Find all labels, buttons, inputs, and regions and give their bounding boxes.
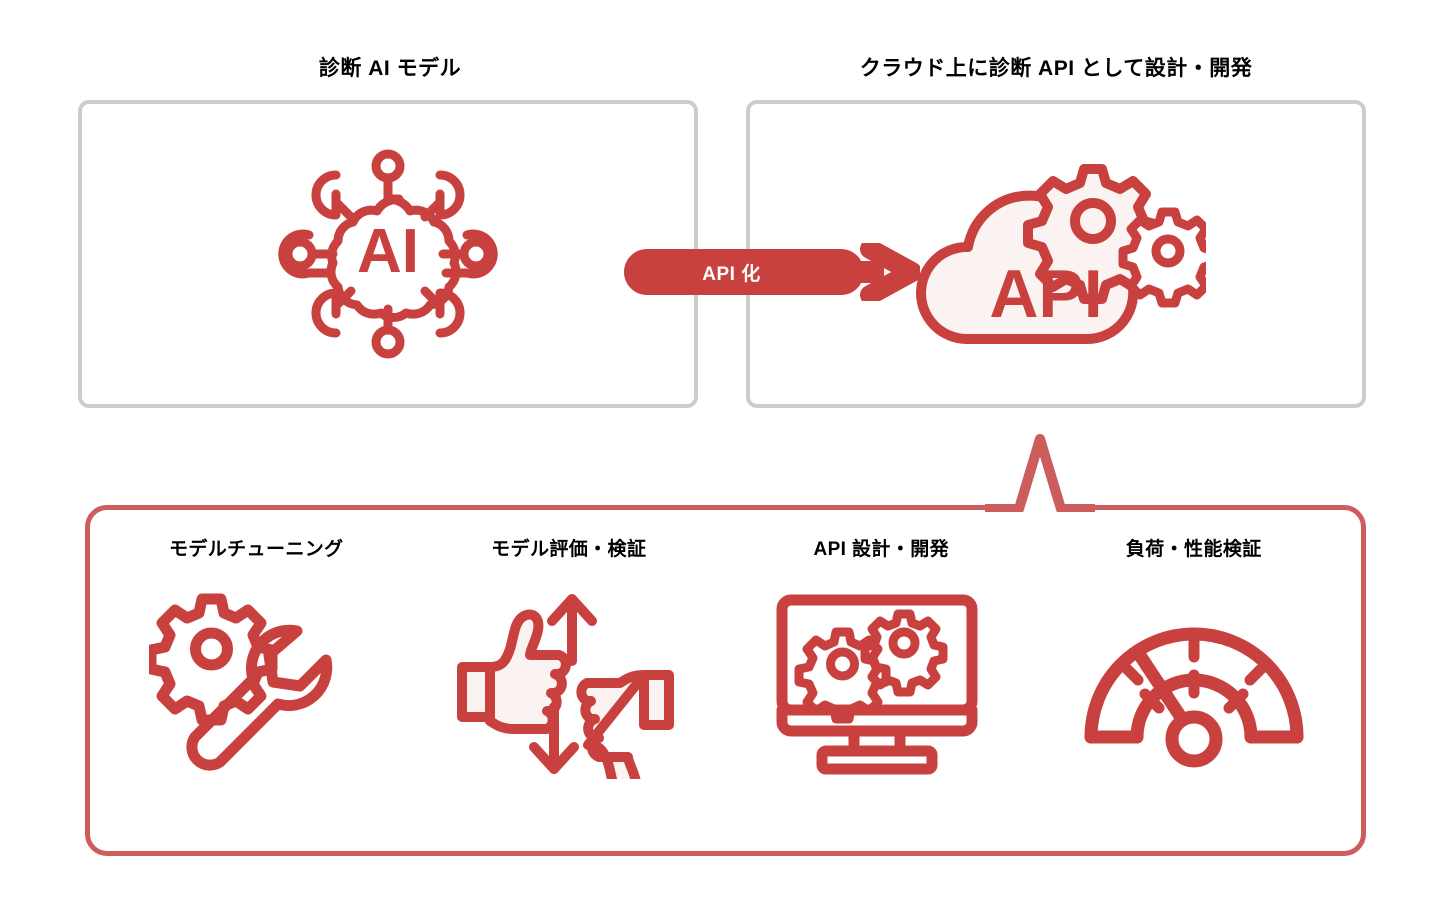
gauge-speedometer-icon xyxy=(1079,597,1309,772)
arrow-label: API 化 xyxy=(624,243,839,301)
detail-item-model-evaluation: モデル評価・検証 xyxy=(429,540,709,779)
detail-item-icon-wrap xyxy=(774,589,989,779)
cloud-gears-api-icon: API xyxy=(906,139,1206,369)
cloud-box-title: クラウド上に診断 API として設計・開発 xyxy=(746,58,1366,79)
thumbs-up-down-arrows-icon xyxy=(454,589,684,779)
detail-item-label: API 設計・開発 xyxy=(813,540,949,559)
model-box-title: 診断 AI モデル xyxy=(80,58,700,79)
api-icon-text: API xyxy=(989,256,1102,332)
detail-items-row: モデルチューニング モデル評価・検証 xyxy=(100,540,1350,840)
detail-item-label: モデル評価・検証 xyxy=(491,540,646,559)
monitor-gears-icon xyxy=(774,592,989,777)
diagram-canvas: 診断 AI モデル クラウド上に診断 API として設計・開発 xyxy=(0,0,1440,920)
model-box-icon-wrap: AI xyxy=(82,104,694,404)
detail-item-api-design: API 設計・開発 xyxy=(741,540,1021,779)
ai-icon-text: AI xyxy=(357,217,419,286)
detail-item-label: 負荷・性能検証 xyxy=(1126,540,1262,559)
detail-item-label: モデルチューニング xyxy=(169,540,344,559)
detail-item-icon-wrap xyxy=(149,589,364,779)
detail-item-load-performance: 負荷・性能検証 xyxy=(1054,540,1334,779)
gear-small-icon xyxy=(1123,212,1206,303)
ai-brain-network-icon: AI xyxy=(273,139,503,369)
detail-item-model-tuning: モデルチューニング xyxy=(116,540,396,779)
api-conversion-arrow: API 化 xyxy=(624,243,920,301)
thumb-down-icon xyxy=(581,675,669,779)
detail-item-icon-wrap xyxy=(454,589,684,779)
gear-wrench-icon xyxy=(149,589,364,779)
panel-pointer-notch xyxy=(985,417,1095,512)
model-box: AI xyxy=(78,100,698,408)
detail-item-icon-wrap xyxy=(1079,589,1309,779)
gauge-hub xyxy=(1172,717,1216,761)
